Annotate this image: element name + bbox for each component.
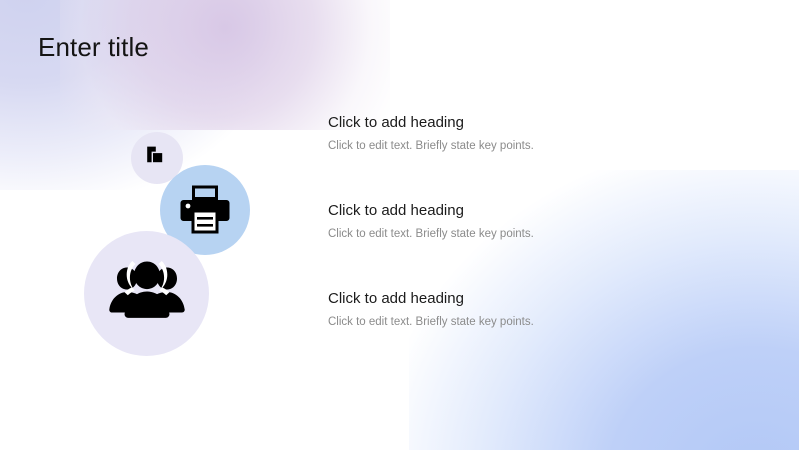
people-group-icon-badge[interactable] (84, 231, 209, 356)
copy-icon (144, 145, 170, 171)
people-group-icon (107, 261, 187, 327)
item-heading[interactable]: Click to add heading (328, 113, 748, 133)
slide-canvas: Enter title (0, 0, 799, 450)
content-item: Click to add heading Click to edit text.… (328, 113, 748, 154)
icon-cluster (0, 0, 300, 450)
content-item: Click to add heading Click to edit text.… (328, 289, 748, 330)
printer-icon (179, 185, 231, 235)
content-list: Click to add heading Click to edit text.… (328, 113, 748, 330)
item-body[interactable]: Click to edit text. Briefly state key po… (328, 138, 748, 154)
content-item: Click to add heading Click to edit text.… (328, 201, 748, 242)
item-body[interactable]: Click to edit text. Briefly state key po… (328, 226, 748, 242)
item-heading[interactable]: Click to add heading (328, 289, 748, 309)
item-body[interactable]: Click to edit text. Briefly state key po… (328, 314, 748, 330)
item-heading[interactable]: Click to add heading (328, 201, 748, 221)
